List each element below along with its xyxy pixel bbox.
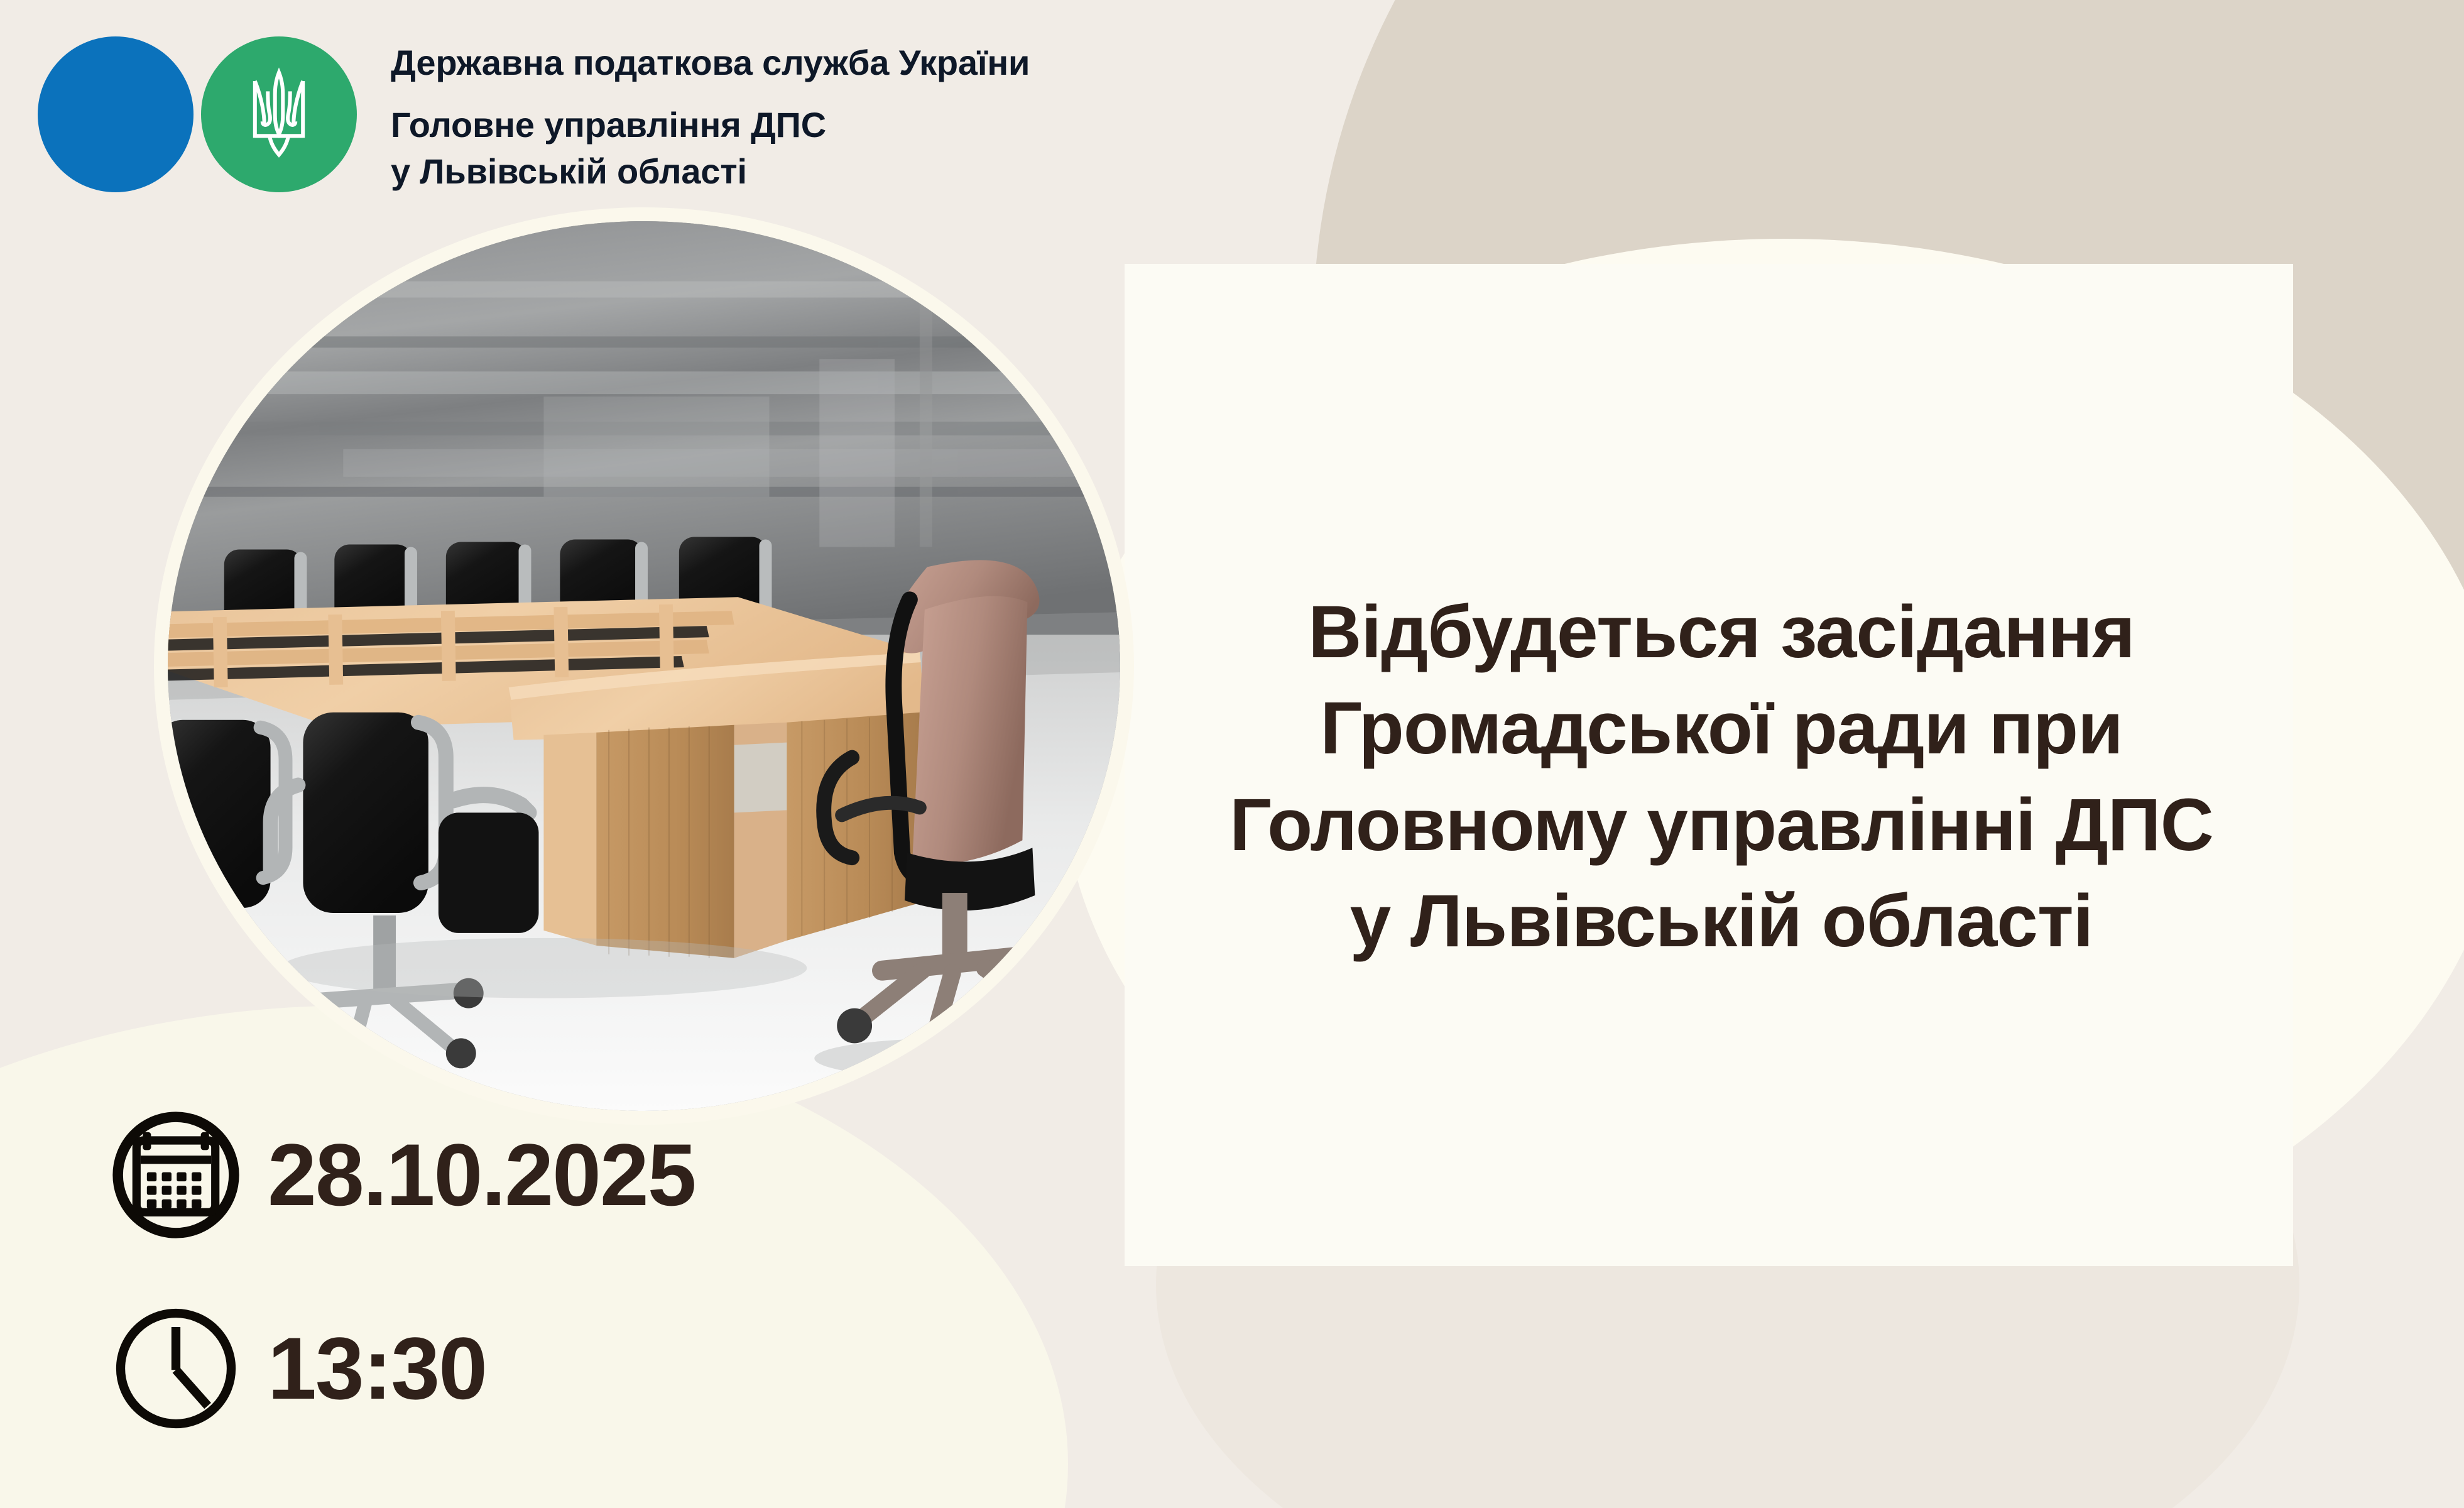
title-line-4: у Львівській області [1125,873,2318,970]
event-date-row: 28.10.2025 [107,1106,695,1244]
event-date: 28.10.2025 [268,1131,695,1219]
event-time-row: 13:30 [107,1299,695,1438]
conference-room-photo [168,221,1120,1111]
event-meta: 28.10.2025 13:30 [107,1106,695,1438]
page-title: Відбудеться засідання Громадської ради п… [1125,584,2318,970]
title-line-2: Громадської ради при [1125,680,2318,777]
clock-icon [107,1299,245,1438]
event-time: 13:30 [268,1325,486,1412]
title-line-3: Головному управлінні ДПС [1125,777,2318,873]
brand-dot-green [201,36,357,192]
brand-line-3: у Львівській області [391,148,1030,195]
brand-text-block: Державна податкова служба України Головн… [391,36,1030,195]
photo-ring [154,207,1134,1125]
ukraine-trident-icon [235,66,323,163]
event-announcement-poster: Державна податкова служба України Головн… [0,0,2464,1508]
brand-line-1: Державна податкова служба України [391,45,1030,80]
brand-header: Державна податкова служба України Головн… [0,0,1030,195]
brand-line-2: Головне управління ДПС [391,102,1030,148]
title-line-1: Відбудеться засідання [1125,584,2318,680]
brand-dot-blue [38,36,194,192]
calendar-icon [107,1106,245,1244]
